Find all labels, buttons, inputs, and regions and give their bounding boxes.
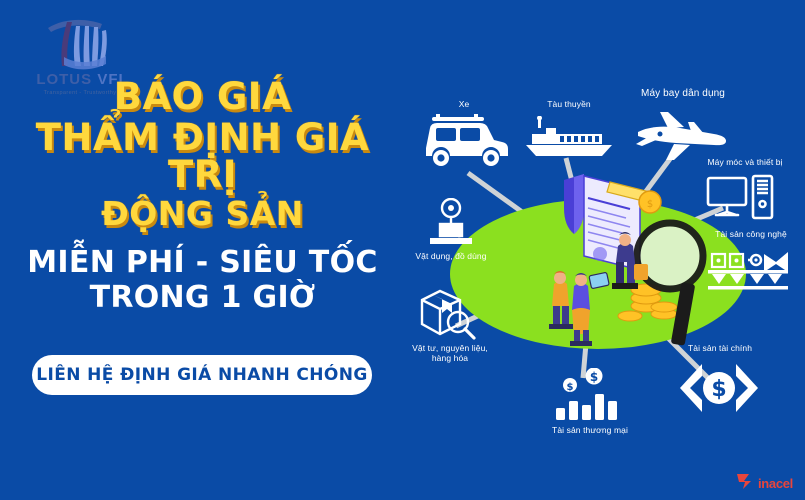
subheadline-line-1: MIỄN PHÍ - SIÊU TỐC — [0, 247, 405, 279]
headline-block: BÁO GIÁ THẨM ĐỊNH GIÁ TRỊ ĐỘNG SẢN MIỄN … — [0, 78, 405, 314]
node-label-cong-nghe: Tài sản công nghệ — [696, 230, 805, 240]
inacel-watermark: inacel — [737, 472, 793, 490]
svg-text:$: $ — [567, 382, 574, 393]
node-label-vat-tu: Vật tư, nguyên liệu, hàng hóa — [392, 344, 508, 364]
money-transfer-icon: $ — [678, 360, 760, 416]
contact-cta-label: LIÊN HỆ ĐỊNH GIÁ NHANH CHÓNG — [36, 365, 368, 385]
ship-icon — [526, 116, 612, 158]
headline-line-3: ĐỘNG SẢN — [0, 197, 405, 231]
node-label-may-moc: Máy móc và thiết bị — [690, 158, 800, 168]
factory-line-icon — [708, 248, 788, 294]
car-icon — [414, 114, 514, 170]
inacel-bird-icon — [737, 472, 757, 490]
node-label-xe: Xe — [424, 100, 504, 110]
node-label-may-bay: Máy bay dân dụng — [618, 88, 748, 100]
svg-text:$: $ — [647, 199, 653, 210]
node-label-thuong-mai: Tài sản thương mại — [530, 426, 650, 436]
svg-text:$: $ — [590, 370, 598, 384]
node-label-vat-dung: Vật dụng, đồ dùng — [386, 252, 516, 262]
bar-chart-dollar-icon: $ $ — [550, 368, 626, 424]
contact-cta-button[interactable]: LIÊN HỆ ĐỊNH GIÁ NHANH CHÓNG — [32, 355, 372, 395]
stamp-icon — [420, 198, 482, 250]
inacel-watermark-text: inacel — [758, 477, 793, 490]
computer-icon — [706, 174, 774, 222]
headline-line-2: THẨM ĐỊNH GIÁ TRỊ — [0, 119, 405, 194]
box-search-icon — [416, 286, 478, 342]
logo-mark-icon — [42, 12, 122, 72]
svg-text:$: $ — [711, 377, 726, 402]
node-label-tai-chinh: Tài sản tài chính — [670, 344, 770, 354]
subheadline-line-2: TRONG 1 GIỜ — [0, 282, 405, 314]
headline-line-1: BÁO GIÁ — [0, 78, 405, 116]
node-label-tau-thuyen: Tàu thuyền — [523, 100, 615, 110]
asset-types-infographic: $ — [378, 78, 805, 448]
promo-banner: LOTUS VFI Transparent - Trustworthy BÁO … — [0, 0, 805, 500]
